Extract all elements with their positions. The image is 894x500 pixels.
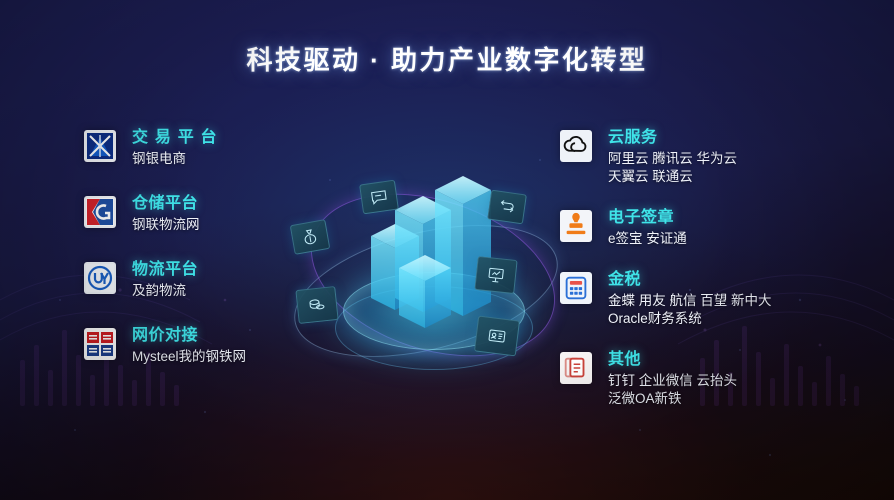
feature-heading: 物流平台 <box>132 260 198 279</box>
feature-subtitle: 钢联物流网 <box>132 216 200 234</box>
warehouse-platform-logo-icon <box>84 196 116 228</box>
slide-canvas: 科技驱动 · 助力产业数字化转型 <box>0 0 894 500</box>
feature-subtitle: 钢银电商 <box>132 150 218 168</box>
id-card-icon <box>487 326 507 346</box>
feature-item-price-connect[interactable]: 网价对接 Mysteel我的钢铁网 <box>84 326 384 366</box>
page-title: 科技驱动 · 助力产业数字化转型 <box>246 40 647 77</box>
feature-heading: 金税 <box>608 270 772 289</box>
feature-item-other[interactable]: 其他 钉钉 企业微信 云抬头 泛微OA新铁 <box>560 350 860 408</box>
feature-item-electronic-seal[interactable]: 电子签章 e签宝 安证通 <box>560 208 860 248</box>
feature-item-golden-tax[interactable]: 金税 金蝶 用友 航信 百望 新中大 Oracle财务系统 <box>560 270 860 328</box>
logistics-platform-logo-icon <box>84 262 116 294</box>
feature-subtitle: 钉钉 企业微信 云抬头 <box>608 372 737 390</box>
feature-heading: 其他 <box>608 350 737 369</box>
feature-subtitle: 阿里云 腾讯云 华为云 <box>608 150 737 168</box>
feature-item-logistics-platform[interactable]: 物流平台 及韵物流 <box>84 260 384 300</box>
electronic-seal-stamp-icon <box>560 210 592 242</box>
trade-platform-logo-icon <box>84 130 116 162</box>
golden-tax-calculator-icon <box>560 272 592 304</box>
feature-subtitle-line2: 天翼云 联通云 <box>608 168 737 186</box>
right-feature-column: 云服务 阿里云 腾讯云 华为云 天翼云 联通云 电子签章 e签宝 安证通 <box>560 128 860 430</box>
floating-card-presentation <box>474 256 517 294</box>
feature-subtitle: 及韵物流 <box>132 282 198 300</box>
feature-item-warehouse-platform[interactable]: 仓储平台 钢联物流网 <box>84 194 384 234</box>
mysteel-logo-icon <box>84 328 116 360</box>
left-feature-column: 交 易 平 台 钢银电商 仓储平台 钢联物流网 <box>84 128 384 388</box>
slide-title-container: 科技驱动 · 助力产业数字化转型 <box>0 40 894 77</box>
feature-heading: 网价对接 <box>132 326 246 345</box>
feature-heading: 云服务 <box>608 128 737 147</box>
feature-heading: 交 易 平 台 <box>132 128 218 147</box>
presentation-chart-icon <box>486 265 506 285</box>
feature-subtitle: 金蝶 用友 航信 百望 新中大 <box>608 292 772 310</box>
feature-heading: 仓储平台 <box>132 194 200 213</box>
floating-card-refresh <box>487 190 527 225</box>
feature-item-cloud-service[interactable]: 云服务 阿里云 腾讯云 华为云 天翼云 联通云 <box>560 128 860 186</box>
feature-subtitle-line2: Oracle财务系统 <box>608 310 772 328</box>
feature-item-trade-platform[interactable]: 交 易 平 台 钢银电商 <box>84 128 384 168</box>
feature-subtitle: e签宝 安证通 <box>608 230 687 248</box>
cloud-service-icon <box>560 130 592 162</box>
feature-heading: 电子签章 <box>608 208 687 227</box>
feature-subtitle: Mysteel我的钢铁网 <box>132 348 246 366</box>
other-documents-icon <box>560 352 592 384</box>
floating-card-id <box>474 316 520 357</box>
refresh-cycle-icon <box>497 197 517 217</box>
feature-subtitle-line2: 泛微OA新铁 <box>608 390 737 408</box>
